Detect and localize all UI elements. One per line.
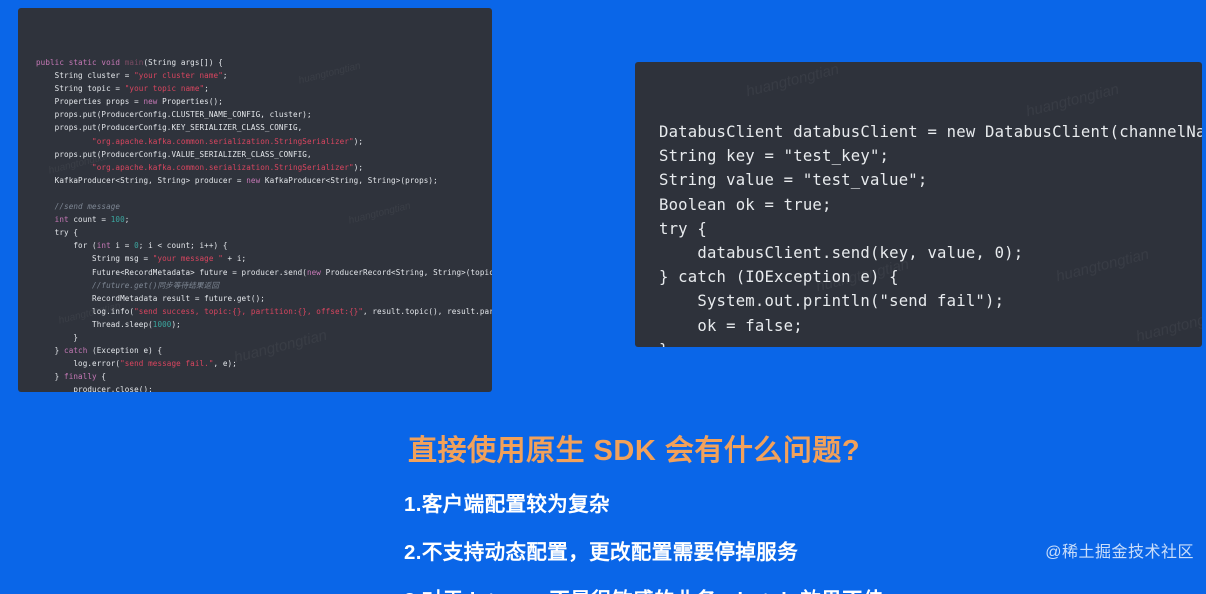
code-line: "org.apache.kafka.common.serialization.S… [36, 163, 363, 172]
code-line: "org.apache.kafka.common.serialization.S… [36, 137, 363, 146]
code-line: String value = "test_value"; [659, 171, 927, 189]
code-line: log.error("send message fail.", e); [36, 359, 237, 368]
code-line: try { [36, 228, 78, 237]
code-line: String msg = "your message " + i; [36, 254, 246, 263]
code-line: props.put(ProducerConfig.CLUSTER_NAME_CO… [36, 110, 312, 119]
code-line: Future<RecordMetadata> future = producer… [36, 268, 492, 277]
code-line: Properties props = new Properties(); [36, 97, 223, 106]
code-line: ok = false; [659, 317, 803, 335]
databus-code-content: DatabusClient databusClient = new Databu… [635, 120, 1202, 347]
code-line: } [659, 341, 669, 347]
watermark-stroke: huangtongtian [744, 62, 840, 100]
code-line: String cluster = "your cluster name"; [36, 71, 228, 80]
code-line: try { [659, 220, 707, 238]
code-line: System.out.println("send fail"); [659, 292, 1004, 310]
code-line: //future.get()同步等待结果返回 [36, 281, 219, 290]
code-line: props.put(ProducerConfig.KEY_SERIALIZER_… [36, 123, 302, 132]
code-line: String topic = "your topic name"; [36, 84, 209, 93]
code-line: public static void main(String args[]) { [36, 58, 223, 67]
bullet-item-1: 1.客户端配置较为复杂 [404, 487, 1194, 517]
slide-root: public static void main(String args[]) {… [0, 0, 1206, 594]
code-line: producer.close(); [36, 385, 153, 392]
watermark-stroke: huangtongtian [1024, 81, 1120, 121]
databus-code-panel: DatabusClient databusClient = new Databu… [635, 62, 1202, 347]
code-line: databusClient.send(key, value, 0); [659, 244, 1023, 262]
code-line: log.info("send success, topic:{}, partit… [36, 307, 492, 316]
section-headline: 直接使用原生 SDK 会有什么问题? [408, 427, 860, 469]
code-line: RecordMetadata result = future.get(); [36, 294, 265, 303]
code-line: props.put(ProducerConfig.VALUE_SERIALIZE… [36, 150, 312, 159]
code-line: } catch (Exception e) { [36, 346, 162, 355]
code-line: int count = 100; [36, 215, 129, 224]
code-line: for (int i = 0; i < count; i++) { [36, 241, 228, 250]
code-line: //send message [36, 202, 120, 211]
code-line: } catch (IOException e) { [659, 268, 899, 286]
code-line: String key = "test_key"; [659, 147, 889, 165]
code-line: Boolean ok = true; [659, 196, 832, 214]
kafka-code-content: public static void main(String args[]) {… [18, 56, 492, 392]
bullet-item-3: 3.对于 latency 不是很敏感的业务，batch 效果不佳 [404, 583, 1194, 594]
kafka-code-panel: public static void main(String args[]) {… [18, 8, 492, 392]
code-line: } finally { [36, 372, 106, 381]
code-line: KafkaProducer<String, String> producer =… [36, 176, 438, 185]
code-line [36, 189, 41, 198]
site-watermark: @稀土掘金技术社区 [1045, 538, 1194, 562]
code-line: } [36, 333, 78, 342]
code-line: DatabusClient databusClient = new Databu… [659, 123, 1202, 141]
code-line: Thread.sleep(1000); [36, 320, 181, 329]
